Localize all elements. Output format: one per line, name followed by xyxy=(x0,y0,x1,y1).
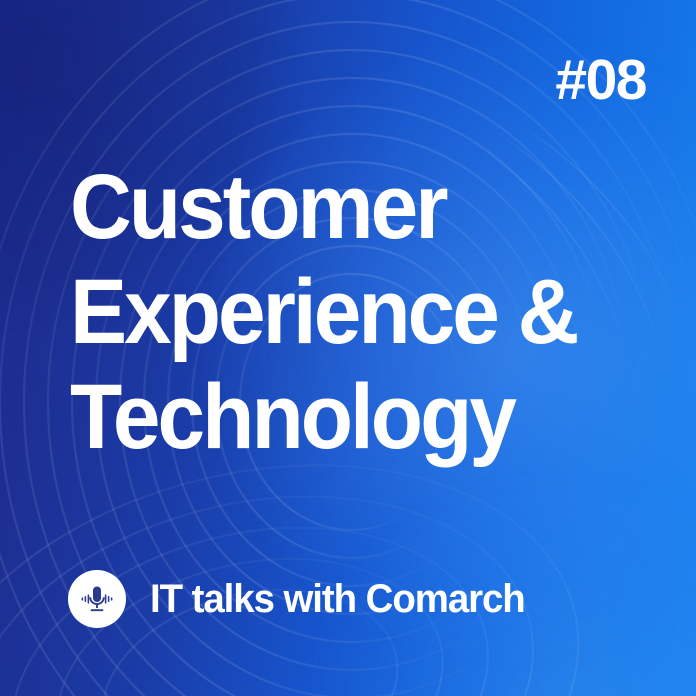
podcast-cover-art: #08 Customer Experience & Technology xyxy=(0,0,696,696)
title-line-1: Customer xyxy=(70,155,628,260)
episode-number: #08 xyxy=(555,52,646,109)
show-title: IT talks with Comarch xyxy=(150,579,525,619)
show-branding: IT talks with Comarch xyxy=(68,570,540,628)
episode-title: Customer Experience & Technology xyxy=(70,155,670,470)
cover-content: #08 Customer Experience & Technology xyxy=(0,0,696,696)
podcast-badge xyxy=(68,570,126,628)
title-line-2: Experience & xyxy=(70,260,628,365)
microphone-icon xyxy=(76,578,118,620)
title-line-3: Technology xyxy=(70,365,628,470)
